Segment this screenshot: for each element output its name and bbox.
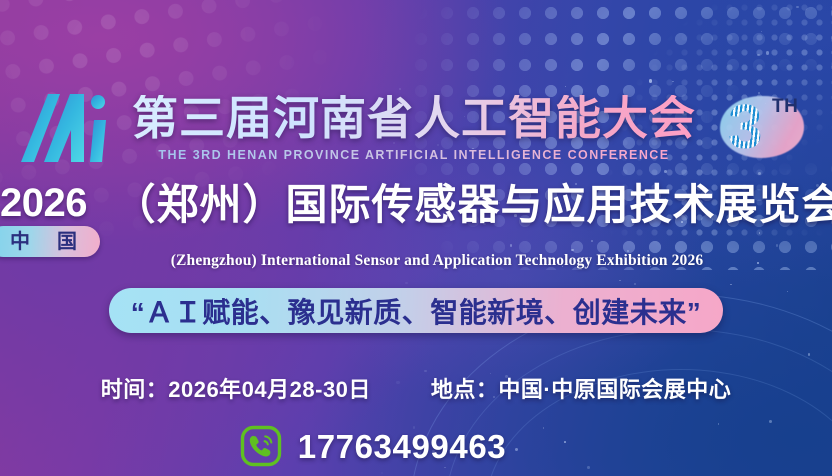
event-date: 时间：2026年04月28-30日: [101, 372, 371, 404]
year-label: 2026: [0, 184, 100, 222]
title-row: 第三届河南省人工智能大会 THE 3RD HENAN PROVINCE ARTI…: [0, 82, 832, 174]
main-title-en: THE 3RD HENAN PROVINCE ARTIFICIAL INTELL…: [132, 148, 696, 162]
contact-row: 17763499463: [0, 425, 832, 467]
phone-icon: [240, 425, 282, 467]
country-pill-char-1: 中: [10, 232, 30, 252]
edition-badge-number: 3: [728, 97, 762, 159]
main-title-cn: 第三届河南省人工智能大会: [132, 95, 696, 141]
edition-badge-suffix: TH: [772, 96, 798, 118]
slogan-pill: “ＡＩ赋能、豫见新质、智能新境、创建未来”: [109, 288, 724, 333]
phone-number: 17763499463: [298, 430, 506, 463]
country-pill-char-2: 国: [57, 232, 77, 252]
headline-row: 2026 中 国 （郑州）国际传感器与应用技术展览会: [0, 183, 832, 245]
headline-en: (Zhengzhou) International Sensor and App…: [0, 252, 832, 270]
banner-content: 第三届河南省人工智能大会 THE 3RD HENAN PROVINCE ARTI…: [0, 0, 832, 476]
edition-badge: 3 TH: [718, 90, 814, 166]
headline-cn: （郑州）国际传感器与应用技术展览会: [114, 183, 832, 227]
conference-banner: 第三届河南省人工智能大会 THE 3RD HENAN PROVINCE ARTI…: [0, 0, 832, 476]
info-row: 时间：2026年04月28-30日 地点：中国·中原国际会展中心: [0, 372, 832, 404]
event-venue: 地点：中国·中原国际会展中心: [431, 372, 731, 404]
slogan-row: “ＡＩ赋能、豫见新质、智能新境、创建未来”: [0, 288, 832, 333]
ai-logo-icon: [18, 90, 110, 166]
year-block: 2026 中 国: [0, 183, 100, 257]
title-block: 第三届河南省人工智能大会 THE 3RD HENAN PROVINCE ARTI…: [132, 95, 696, 162]
